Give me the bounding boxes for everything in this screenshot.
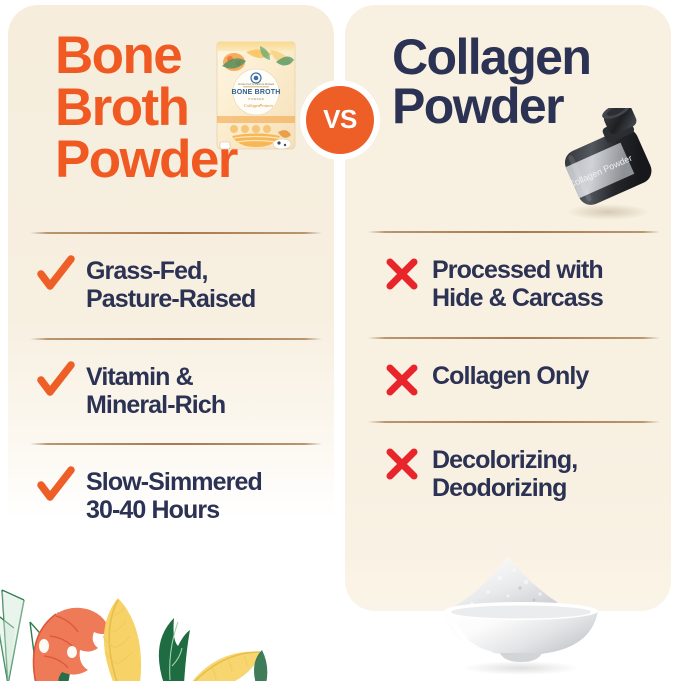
botanical-leaves-decoration: [0, 548, 284, 681]
powder-bowl-image: [428, 548, 614, 676]
list-item: Grass-Fed, Pasture-Raised: [30, 234, 322, 338]
right-feature-list: Processed with Hide & Carcass Collagen O…: [368, 231, 660, 526]
svg-text:Protein: Protein: [258, 103, 273, 108]
list-item-line: Deodorizing: [432, 474, 577, 502]
svg-text:P O W D E R: P O W D E R: [248, 97, 263, 101]
list-item-label: Slow-Simmered 30-40 Hours: [86, 467, 262, 525]
cross-icon: [384, 256, 420, 292]
collagen-jar-image: Collagen Powder: [552, 108, 662, 220]
comparison-infographic: Bone Broth Powder Collagen Powder: [0, 0, 679, 681]
check-icon: [38, 257, 74, 293]
list-item: Slow-Simmered 30-40 Hours: [30, 445, 322, 549]
list-item-line: Processed with: [432, 256, 603, 284]
list-item-line: Mineral-Rich: [86, 391, 225, 419]
svg-text:Grass-Fed & Pasture-Raised: Grass-Fed & Pasture-Raised: [238, 82, 274, 86]
list-item-line: 30-40 Hours: [86, 496, 262, 524]
left-title-line-3: Powder: [55, 134, 237, 186]
right-title-line-1: Collagen: [392, 33, 590, 82]
left-panel-title: Bone Broth Powder: [55, 30, 237, 186]
check-icon: [38, 363, 74, 399]
cross-icon: [384, 446, 420, 482]
list-item-line: Vitamin &: [86, 363, 225, 391]
list-item-line: Pasture-Raised: [86, 285, 255, 313]
list-item-line: Decolorizing,: [432, 446, 577, 474]
list-item-label: Decolorizing, Deodorizing: [432, 445, 577, 503]
bone-broth-pouch-image: Grass-Fed & Pasture-Raised BONE BROTH P …: [212, 32, 300, 158]
list-item-label: Collagen Only: [432, 361, 588, 390]
list-item: Vitamin & Mineral-Rich: [30, 340, 322, 444]
list-item-label: Vitamin & Mineral-Rich: [86, 362, 225, 420]
list-item-label: Grass-Fed, Pasture-Raised: [86, 256, 255, 314]
cross-icon: [384, 362, 420, 398]
left-title-line-2: Broth: [55, 82, 237, 134]
check-icon: [38, 468, 74, 504]
list-item: Decolorizing, Deodorizing: [368, 423, 660, 527]
list-item-label: Processed with Hide & Carcass: [432, 255, 603, 313]
list-item: Processed with Hide & Carcass: [368, 233, 660, 337]
svg-text:BONE BROTH: BONE BROTH: [231, 89, 280, 96]
list-item-line: Hide & Carcass: [432, 284, 603, 312]
list-item-line: Collagen Only: [432, 362, 588, 390]
list-item-line: Slow-Simmered: [86, 468, 262, 496]
vs-badge: VS: [306, 86, 374, 154]
vs-badge-label: VS: [323, 106, 357, 132]
list-item-line: Grass-Fed,: [86, 257, 255, 285]
left-feature-list: Grass-Fed, Pasture-Raised Vitamin & Mine…: [30, 232, 322, 549]
list-item: Collagen Only: [368, 339, 660, 421]
left-title-line-1: Bone: [55, 30, 237, 82]
